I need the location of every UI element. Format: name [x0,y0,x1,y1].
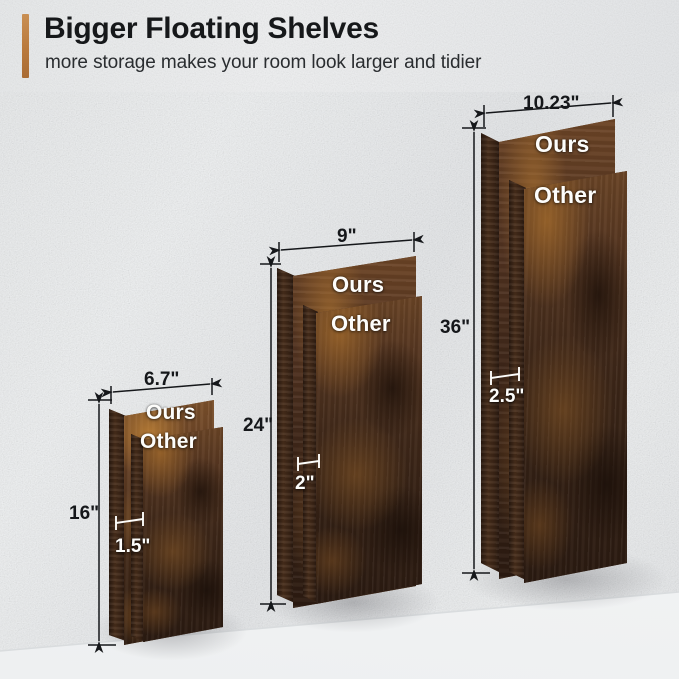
infographic-canvas: Bigger Floating Shelves more storage mak… [0,0,679,679]
dimension-annotations [0,0,679,679]
